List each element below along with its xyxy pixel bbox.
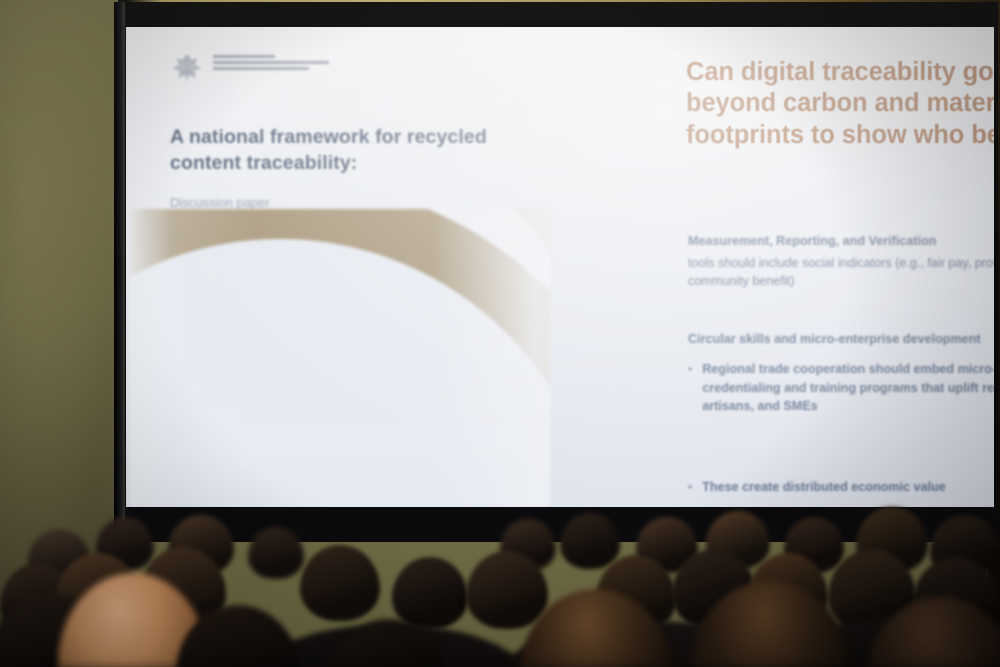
crest-emblem-icon — [170, 52, 204, 82]
audience-head-foreground — [866, 597, 1000, 667]
block-body: tools should include social indicators (… — [688, 254, 994, 291]
crest-wordmark — [213, 52, 329, 70]
australian-government-crest: Australian Government Department of Clim… — [170, 52, 329, 82]
conference-photo-scene: Australian Government Department of Clim… — [0, 0, 1000, 667]
audience-head — [466, 551, 548, 629]
audience-head — [672, 549, 756, 629]
crest-dept-line-1 — [213, 61, 329, 64]
block-lead: Measurement, Reporting, and Verification — [688, 232, 994, 251]
slide-body-block-skills: Circular skills and micro-enterprise dev… — [688, 330, 994, 416]
audience-shoulders — [500, 621, 800, 667]
projection-screen-left-edge — [114, 2, 125, 542]
bullet-dot-icon: • — [688, 360, 692, 417]
audience-shoulders — [760, 617, 1000, 667]
slide-title: A national framework for recycled conten… — [170, 125, 530, 177]
block-bullet: • These create distributed economic valu… — [688, 478, 994, 497]
bullet-dot-icon: • — [688, 478, 692, 497]
slide-body-block-mrv: Measurement, Reporting, and Verification… — [688, 232, 994, 291]
audience-shoulders — [250, 625, 530, 667]
block-bullet: • Regional trade cooperation should embe… — [688, 360, 994, 417]
slide-photo-collage — [130, 209, 550, 507]
presentation-slide: Australian Government Department of Clim… — [126, 27, 994, 507]
audience-head-foreground — [176, 605, 300, 667]
collage-fade-sides — [130, 209, 550, 507]
room-wall-left — [0, 0, 124, 667]
block-lead: Circular skills and micro-enterprise dev… — [688, 330, 994, 349]
slide-headline: Can digital traceability go beyond carbo… — [686, 57, 994, 151]
audience-head — [596, 555, 676, 633]
audience-head — [912, 557, 1000, 641]
bullet-text: These create distributed economic value — [702, 478, 994, 497]
slide-body-block-value: • These create distributed economic valu… — [688, 467, 994, 497]
audience-head-foreground — [520, 589, 672, 667]
audience-head — [748, 553, 828, 629]
crest-org-line — [213, 55, 275, 58]
audience-head — [140, 547, 226, 629]
audience-head — [828, 549, 916, 633]
audience-head — [300, 545, 380, 621]
audience-head-foreground — [330, 619, 448, 667]
audience-head — [392, 557, 468, 629]
bullet-text: Regional trade cooperation should embed … — [702, 360, 994, 417]
audience-head-foreground — [690, 581, 850, 667]
crest-dept-line-2 — [213, 67, 309, 70]
